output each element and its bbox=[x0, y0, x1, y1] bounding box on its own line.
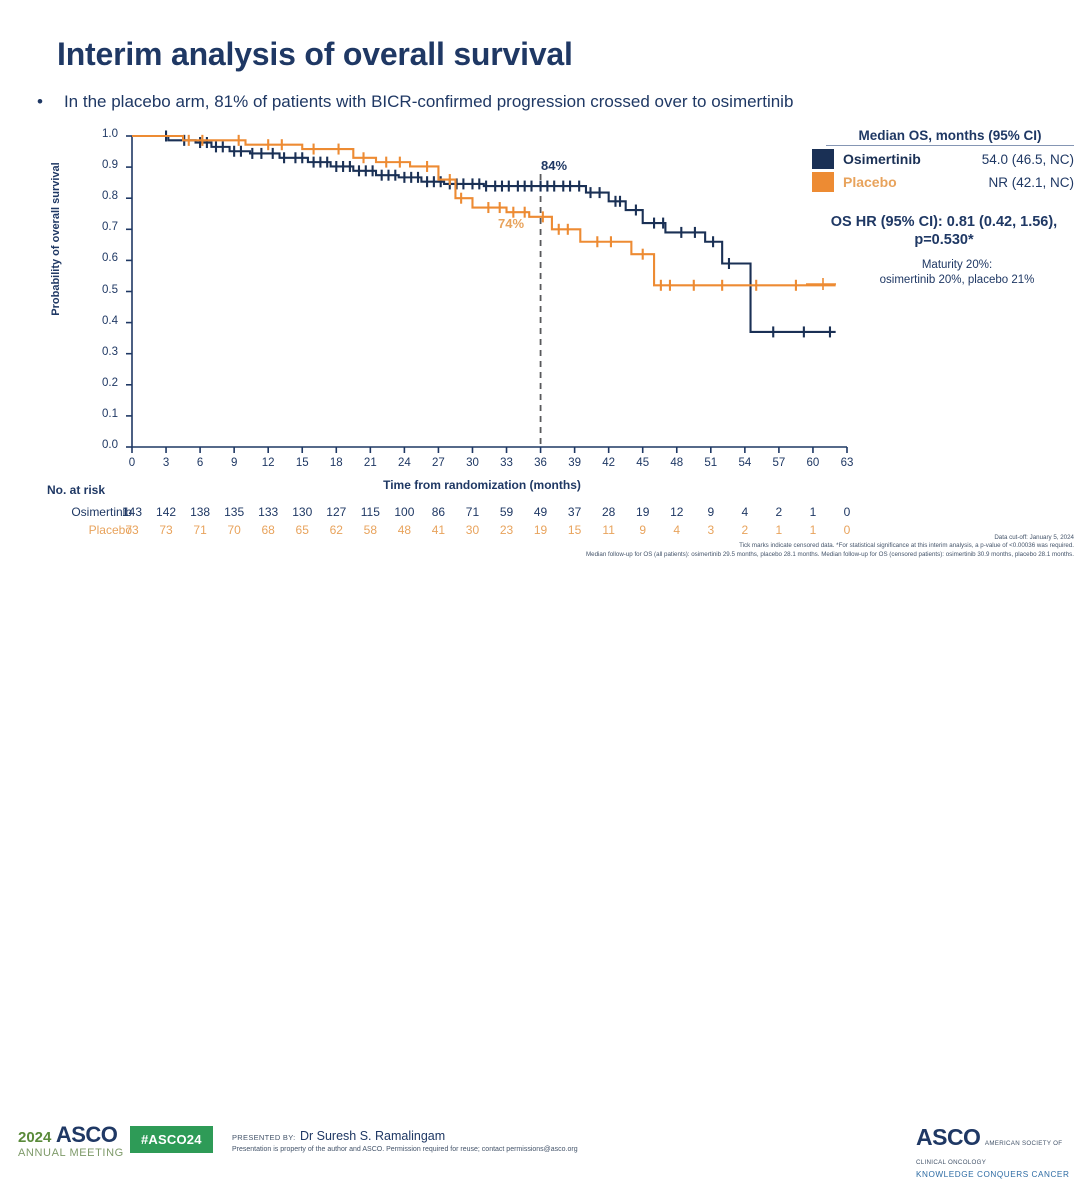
asco-logo-society-line2: CLINICAL ONCOLOGY bbox=[916, 1159, 986, 1166]
y-tick-0.5: 0.5 bbox=[84, 284, 118, 296]
risk-cell: 65 bbox=[289, 523, 315, 537]
risk-cell: 9 bbox=[698, 505, 724, 519]
annotation-placebo-36mo: 74% bbox=[498, 216, 524, 231]
legend-value-placebo: NR (42.1, NC) bbox=[955, 175, 1074, 190]
risk-cell: 133 bbox=[255, 505, 281, 519]
x-tick-3: 3 bbox=[153, 457, 179, 469]
risk-cell: 115 bbox=[357, 505, 383, 519]
legend-label-placebo: Placebo bbox=[843, 174, 955, 190]
legend-row-osimertinib: Osimertinib 54.0 (46.5, NC) bbox=[812, 149, 1074, 169]
x-tick-48: 48 bbox=[664, 457, 690, 469]
footer: 2024 ASCO ANNUAL MEETING #ASCO24 PRESENT… bbox=[0, 558, 1080, 608]
risk-cell: 68 bbox=[255, 523, 281, 537]
chart-legend: Median OS, months (95% CI) Osimertinib 5… bbox=[812, 128, 1074, 192]
risk-cell: 2 bbox=[766, 505, 792, 519]
y-tick-0.1: 0.1 bbox=[84, 408, 118, 420]
legend-row-placebo: Placebo NR (42.1, NC) bbox=[812, 172, 1074, 192]
risk-cell: 28 bbox=[596, 505, 622, 519]
footnote-tickmarks: Tick marks indicate censored data. *For … bbox=[494, 542, 1074, 550]
risk-cell: 49 bbox=[528, 505, 554, 519]
footnotes: Data cut-off: January 5, 2024 Tick marks… bbox=[494, 534, 1074, 559]
y-tick-1.0: 1.0 bbox=[84, 128, 118, 140]
asco-logo-tagline: KNOWLEDGE CONQUERS CANCER bbox=[916, 1170, 1069, 1179]
footnote-datacutoff: Data cut-off: January 5, 2024 bbox=[494, 534, 1074, 542]
x-tick-57: 57 bbox=[766, 457, 792, 469]
legend-header: Median OS, months (95% CI) bbox=[826, 128, 1074, 146]
risk-cell: 143 bbox=[119, 505, 145, 519]
hazard-ratio-text: OS HR (95% CI): 0.81 (0.42, 1.56), p=0.5… bbox=[812, 213, 1076, 249]
x-tick-21: 21 bbox=[357, 457, 383, 469]
risk-cell: 58 bbox=[357, 523, 383, 537]
x-tick-51: 51 bbox=[698, 457, 724, 469]
x-tick-6: 6 bbox=[187, 457, 213, 469]
x-axis-title: Time from randomization (months) bbox=[232, 478, 732, 492]
risk-cell: 138 bbox=[187, 505, 213, 519]
asco-meeting-subtitle: ANNUAL MEETING bbox=[18, 1148, 124, 1159]
risk-cell: 37 bbox=[562, 505, 588, 519]
risk-row-osimertinib: Osimertinib14314213813513313012711510086… bbox=[0, 505, 1080, 521]
x-tick-9: 9 bbox=[221, 457, 247, 469]
permission-text: Presentation is property of the author a… bbox=[232, 1146, 578, 1153]
hazard-ratio-line2: p=0.530* bbox=[812, 231, 1076, 249]
risk-cell: 73 bbox=[153, 523, 179, 537]
risk-cell: 59 bbox=[494, 505, 520, 519]
risk-cell: 12 bbox=[664, 505, 690, 519]
asco-logo-wordmark: ASCO bbox=[916, 1124, 980, 1150]
y-tick-0.8: 0.8 bbox=[84, 190, 118, 202]
risk-cell: 100 bbox=[391, 505, 417, 519]
x-tick-18: 18 bbox=[323, 457, 349, 469]
legend-value-osimertinib: 54.0 (46.5, NC) bbox=[955, 152, 1074, 167]
x-tick-60: 60 bbox=[800, 457, 826, 469]
asco-year: 2024 bbox=[18, 1129, 51, 1146]
censor-tick-icon bbox=[806, 278, 836, 290]
risk-cell: 30 bbox=[459, 523, 485, 537]
x-tick-15: 15 bbox=[289, 457, 315, 469]
asco-annual-meeting-logo: 2024 ASCO ANNUAL MEETING bbox=[18, 1124, 124, 1159]
y-tick-0.2: 0.2 bbox=[84, 377, 118, 389]
legend-swatch-osimertinib bbox=[812, 149, 834, 169]
legend-label-osimertinib: Osimertinib bbox=[843, 151, 955, 167]
presenter-name: Dr Suresh S. Ramalingam bbox=[300, 1129, 445, 1143]
risk-cell: 71 bbox=[187, 523, 213, 537]
asco-logo-society-line1: AMERICAN SOCIETY OF bbox=[985, 1140, 1062, 1147]
risk-cell: 41 bbox=[425, 523, 451, 537]
risk-cell: 48 bbox=[391, 523, 417, 537]
presented-by-label: PRESENTED BY: bbox=[232, 1133, 296, 1142]
risk-cell: 70 bbox=[221, 523, 247, 537]
maturity-text: Maturity 20%: osimertinib 20%, placebo 2… bbox=[838, 258, 1076, 288]
x-tick-30: 30 bbox=[459, 457, 485, 469]
y-tick-0.4: 0.4 bbox=[84, 315, 118, 327]
risk-cell: 62 bbox=[323, 523, 349, 537]
x-tick-45: 45 bbox=[630, 457, 656, 469]
x-tick-54: 54 bbox=[732, 457, 758, 469]
asco-logo: ASCO AMERICAN SOCIETY OF CLINICAL ONCOLO… bbox=[916, 1124, 1069, 1179]
risk-cell: 135 bbox=[221, 505, 247, 519]
risk-cell: 1 bbox=[800, 505, 826, 519]
asco-wordmark: ASCO bbox=[56, 1122, 118, 1147]
x-tick-24: 24 bbox=[391, 457, 417, 469]
maturity-line2: osimertinib 20%, placebo 21% bbox=[838, 273, 1076, 288]
hashtag-badge: #ASCO24 bbox=[130, 1126, 213, 1153]
risk-cell: 127 bbox=[323, 505, 349, 519]
risk-cell: 130 bbox=[289, 505, 315, 519]
x-tick-33: 33 bbox=[494, 457, 520, 469]
y-tick-0.3: 0.3 bbox=[84, 346, 118, 358]
x-tick-63: 63 bbox=[834, 457, 860, 469]
risk-cell: 86 bbox=[425, 505, 451, 519]
y-tick-0.9: 0.9 bbox=[84, 159, 118, 171]
x-tick-42: 42 bbox=[596, 457, 622, 469]
y-axis-title: Probability of overall survival bbox=[50, 139, 62, 339]
risk-cell: 142 bbox=[153, 505, 179, 519]
risk-cell: 4 bbox=[732, 505, 758, 519]
risk-cell: 71 bbox=[459, 505, 485, 519]
legend-swatch-placebo bbox=[812, 172, 834, 192]
risk-table-title: No. at risk bbox=[47, 483, 105, 497]
slide-root: Interim analysis of overall survival • I… bbox=[0, 0, 1080, 608]
maturity-line1: Maturity 20%: bbox=[838, 258, 1076, 273]
risk-cell: 0 bbox=[834, 505, 860, 519]
y-tick-0.6: 0.6 bbox=[84, 252, 118, 264]
risk-cell: 19 bbox=[630, 505, 656, 519]
risk-cell: 73 bbox=[119, 523, 145, 537]
y-tick-0.7: 0.7 bbox=[84, 221, 118, 233]
x-tick-0: 0 bbox=[119, 457, 145, 469]
y-tick-0.0: 0.0 bbox=[84, 439, 118, 451]
x-tick-12: 12 bbox=[255, 457, 281, 469]
x-tick-39: 39 bbox=[562, 457, 588, 469]
annotation-osimertinib-36mo: 84% bbox=[541, 158, 567, 173]
x-tick-36: 36 bbox=[528, 457, 554, 469]
x-tick-27: 27 bbox=[425, 457, 451, 469]
presenter-block: PRESENTED BY: Dr Suresh S. Ramalingam bbox=[232, 1127, 445, 1145]
hazard-ratio-line1: OS HR (95% CI): 0.81 (0.42, 1.56), bbox=[812, 213, 1076, 231]
